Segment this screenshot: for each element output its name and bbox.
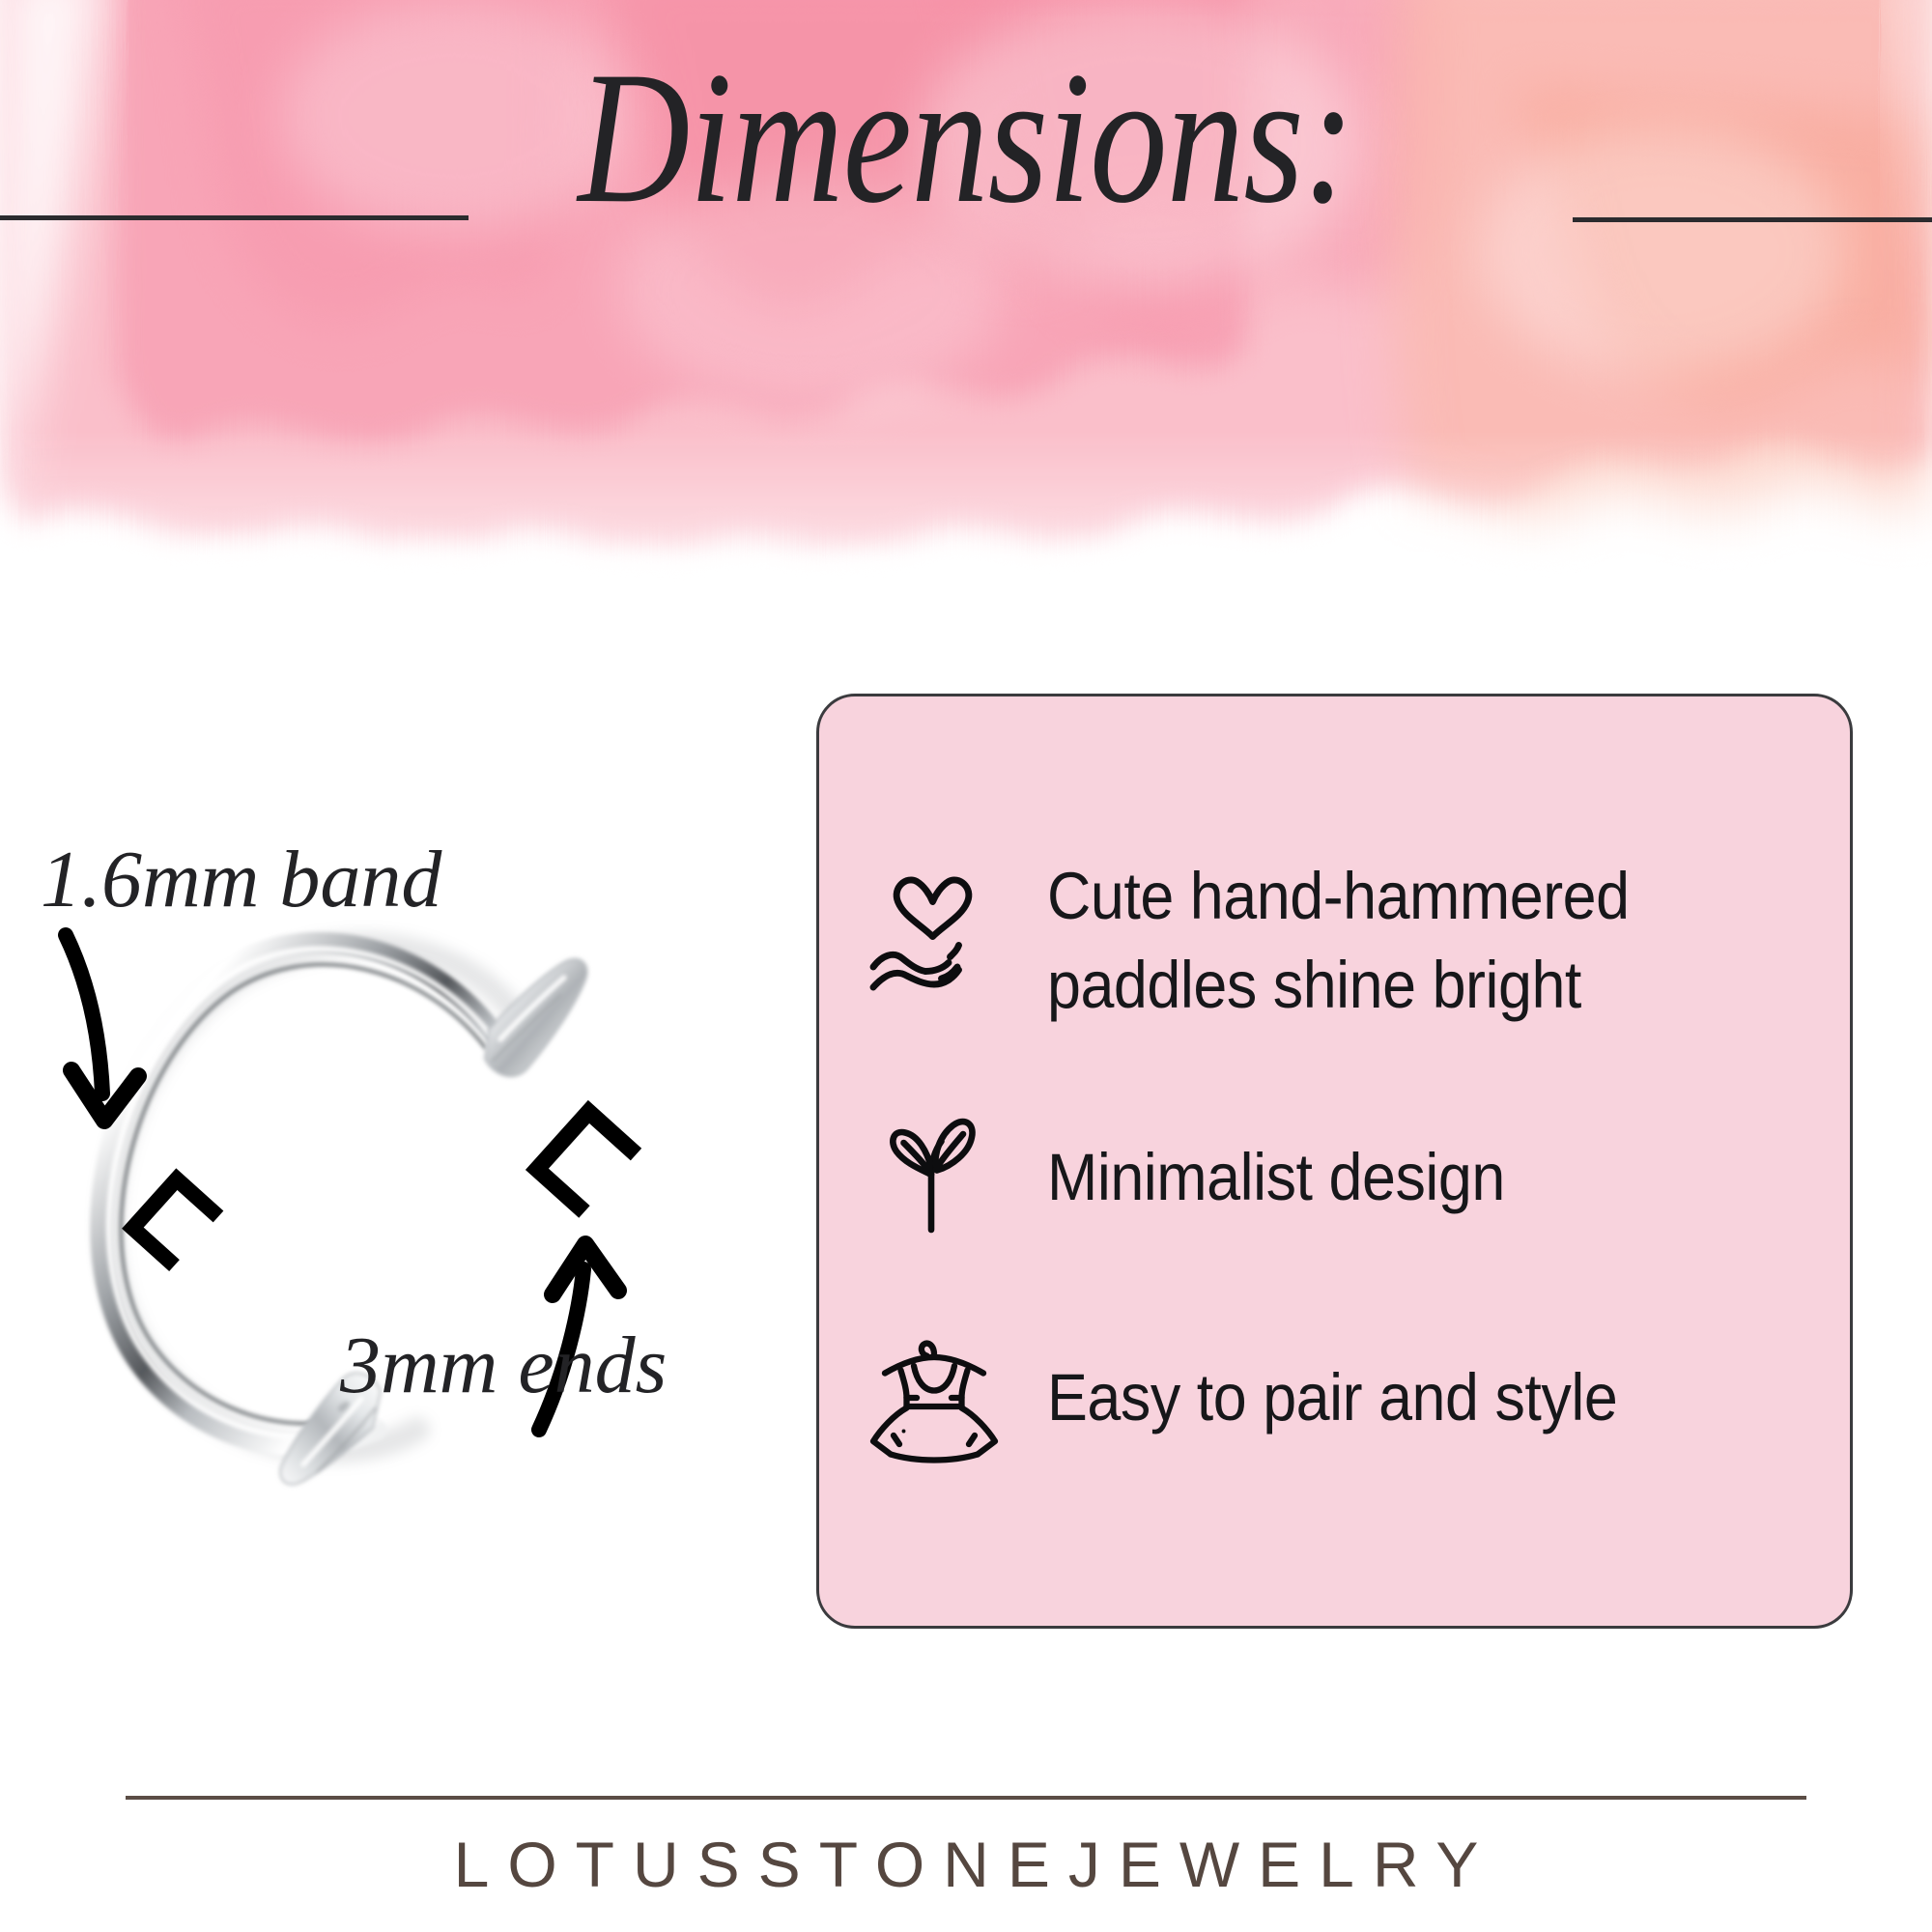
feature-label: Minimalist design [1047,1133,1505,1222]
bracket-ends-icon [537,1112,637,1212]
page-title: Dimensions: [174,39,1758,238]
feature-row: Cute hand-hammered paddles shine bright [862,852,1805,1030]
header-title-row: Dimensions: [0,39,1932,261]
feature-row: Easy to pair and style [862,1325,1805,1470]
sprout-leaf-icon [862,1105,1007,1250]
feature-label: Cute hand-hammered paddles shine bright [1047,852,1737,1030]
product-dimension-area: 1.6mm band [0,753,802,1623]
heart-in-hand-icon [862,868,1007,1013]
bracket-band-icon [132,1179,218,1265]
label-band-width: 1.6mm band [41,833,441,926]
footer: LOTUSSTONEJEWELRY [0,1777,1932,1932]
feature-row: Minimalist design [862,1105,1805,1250]
footer-divider [126,1796,1806,1800]
feature-list: Cute hand-hammered paddles shine bright … [819,696,1850,1626]
arrow-band-icon [66,935,138,1121]
feature-card: Cute hand-hammered paddles shine bright … [816,694,1853,1629]
feature-label: Easy to pair and style [1047,1353,1617,1442]
dress-on-hanger-icon [862,1325,1007,1470]
brand-name: LOTUSSTONEJEWELRY [0,1828,1932,1901]
label-end-width: 3mm ends [340,1319,667,1412]
